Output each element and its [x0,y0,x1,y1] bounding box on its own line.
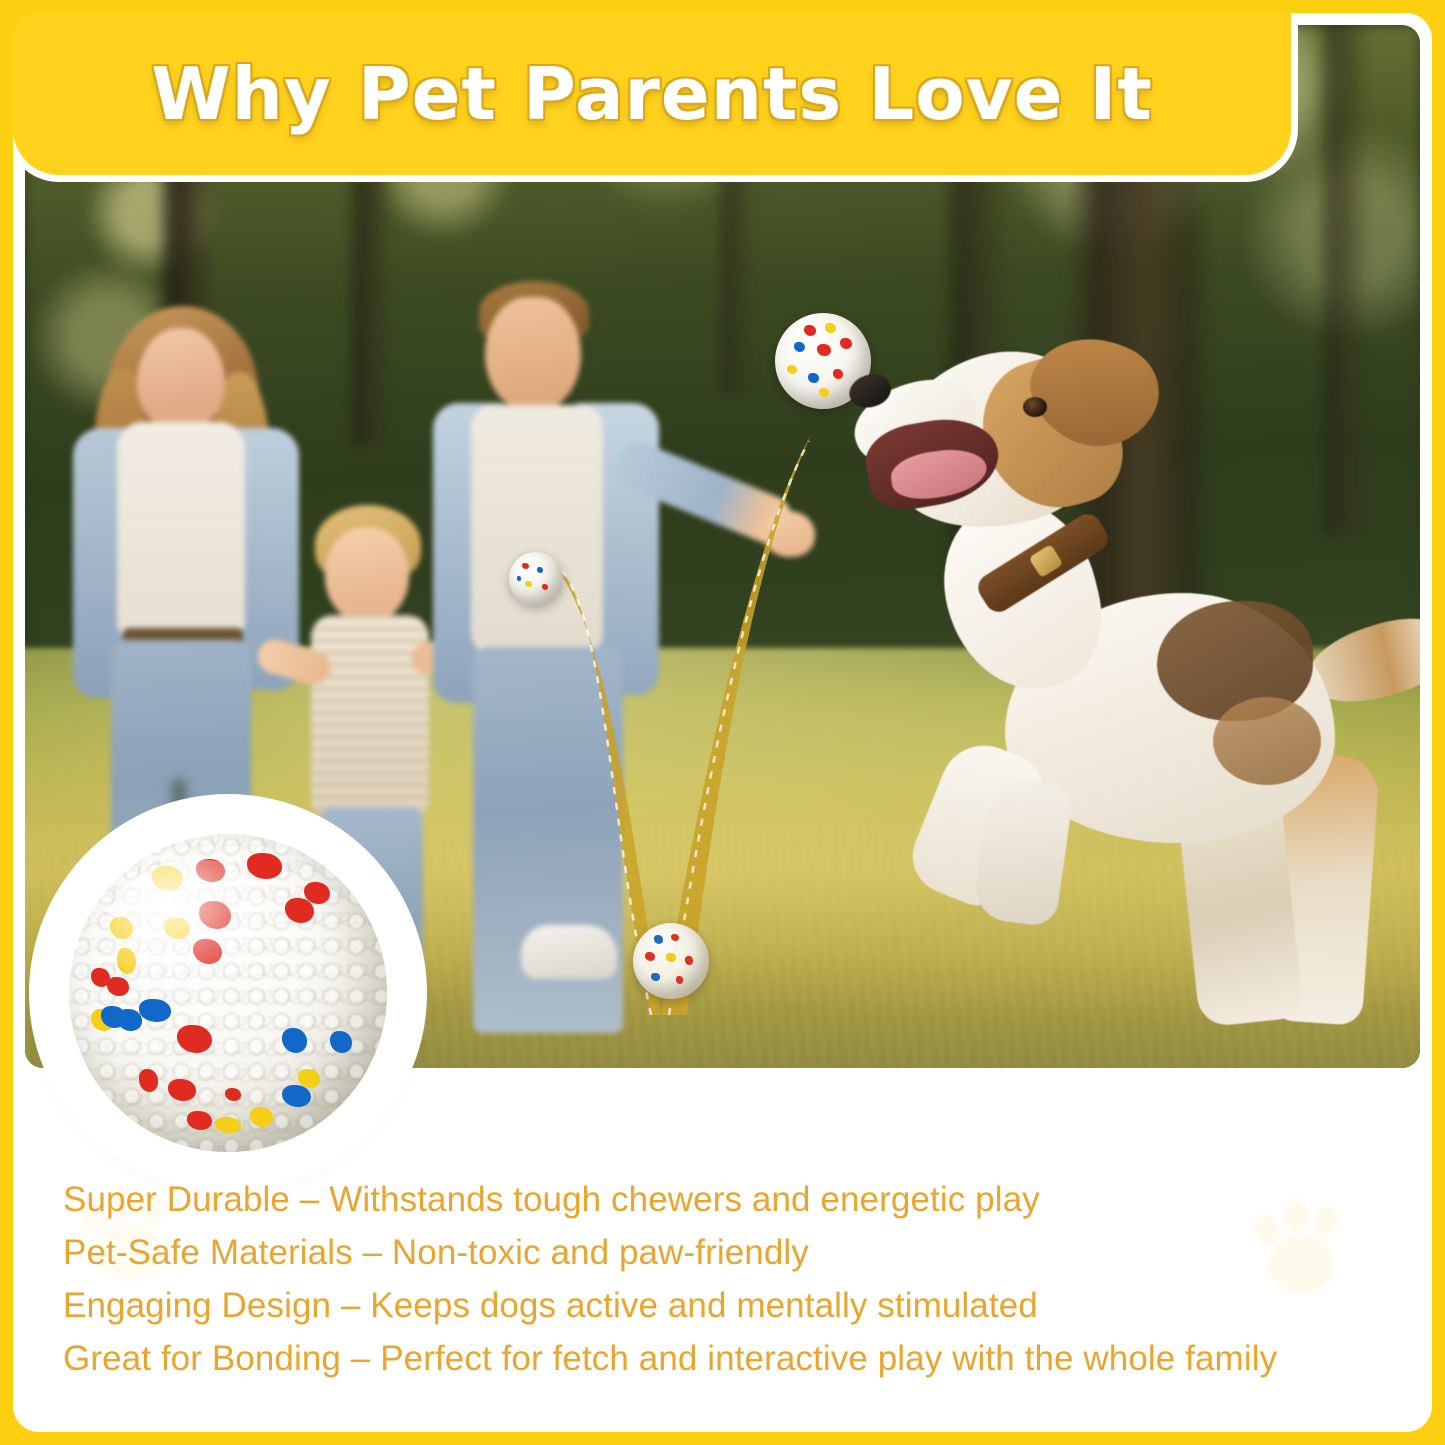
product-ball-inset [43,808,413,1178]
ball-bouncing [633,923,709,999]
feature-item-bonding: Great for Bonding – Perfect for fetch an… [63,1332,1418,1385]
feature-list: Super Durable – Withstands tough chewers… [63,1173,1418,1385]
poster-root: Super Durable – Withstands tough chewers… [0,0,1445,1445]
inner-white-card: Super Durable – Withstands tough chewers… [13,13,1432,1432]
feature-item-durable: Super Durable – Withstands tough chewers… [63,1173,1418,1226]
dog-jack-russell [835,325,1420,1068]
ball-in-hand [509,552,563,606]
page-title: Why Pet Parents Love It [151,52,1153,136]
feature-item-pet-safe: Pet-Safe Materials – Non-toxic and paw-f… [63,1226,1418,1279]
title-banner: Why Pet Parents Love It [13,13,1291,175]
product-ball [69,834,387,1152]
feature-item-engaging: Engaging Design – Keeps dogs active and … [63,1279,1418,1332]
